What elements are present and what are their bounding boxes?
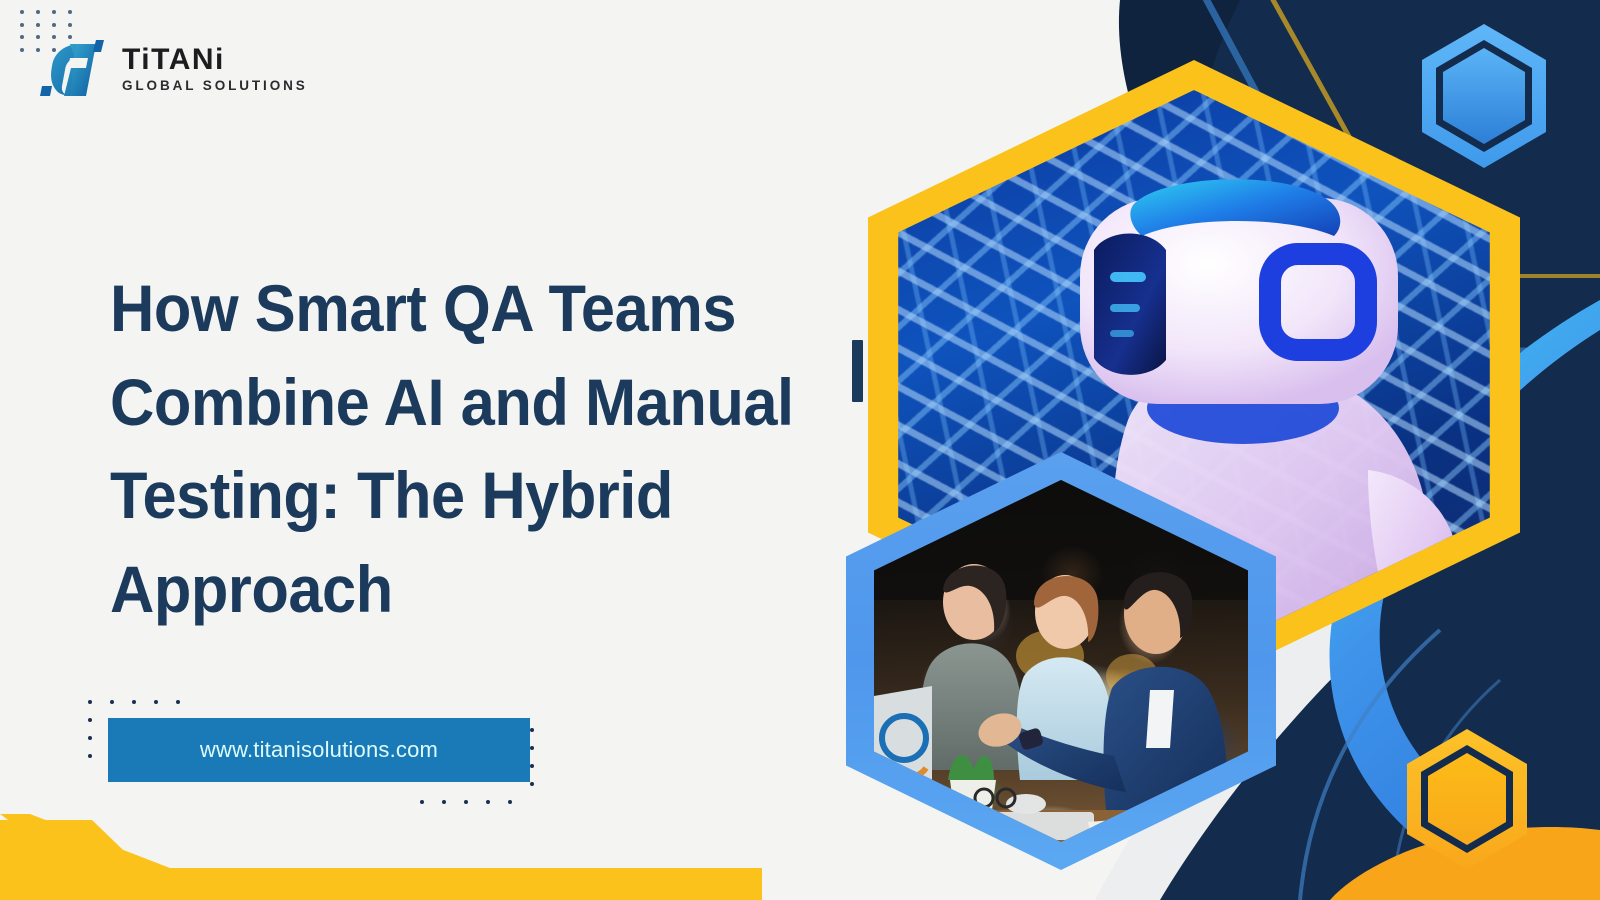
- navy-tick-accent: [852, 340, 863, 402]
- brand-name: TiTANi: [122, 45, 308, 75]
- team-photo: [874, 480, 1248, 842]
- website-url-block[interactable]: www.titanisolutions.com: [88, 700, 558, 810]
- dotted-accent-bottom-right: [460, 728, 580, 818]
- brand-logo[interactable]: TiTANi GLOBAL SOLUTIONS: [40, 38, 308, 100]
- brand-tagline: GLOBAL SOLUTIONS: [122, 79, 308, 93]
- page-title: How Smart QA Teams Combine AI and Manual…: [110, 262, 817, 637]
- titani-monogram-icon: [40, 38, 110, 100]
- website-url-label: www.titanisolutions.com: [200, 737, 438, 763]
- blog-banner: TiTANi GLOBAL SOLUTIONS How Smart QA Tea…: [0, 0, 1600, 900]
